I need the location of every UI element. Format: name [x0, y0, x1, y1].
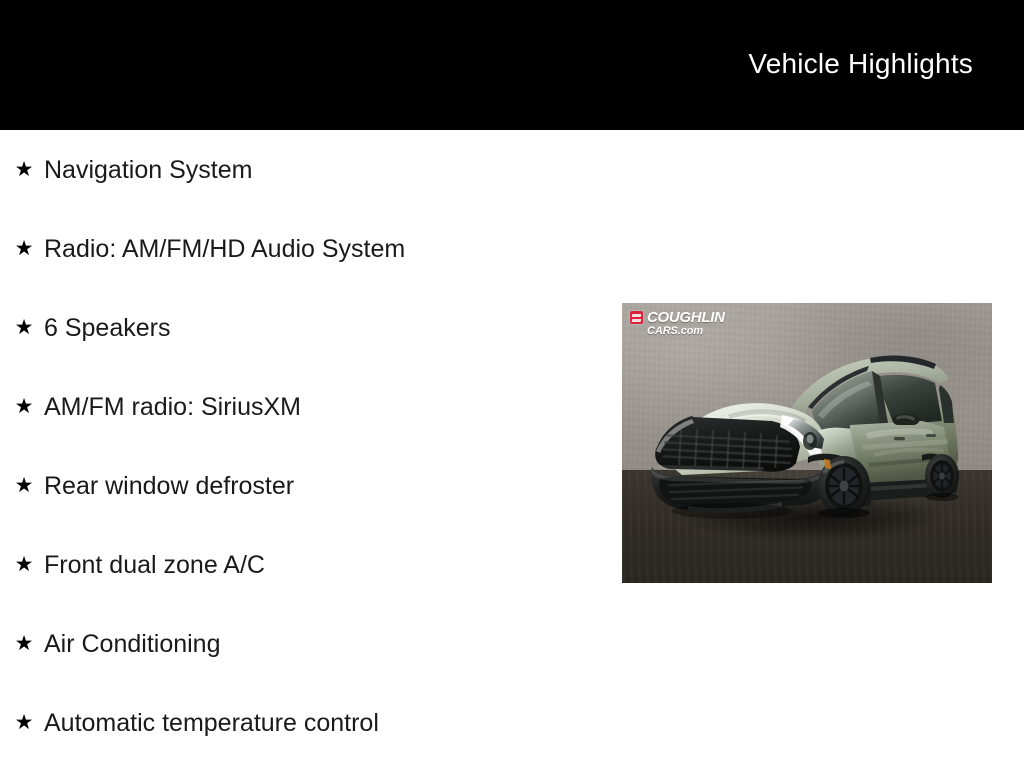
list-item-label: Radio: AM/FM/HD Audio System	[44, 234, 405, 264]
star-icon: ★	[13, 158, 35, 182]
star-icon: ★	[13, 237, 35, 261]
star-icon: ★	[13, 474, 35, 498]
list-item-label: Air Conditioning	[44, 629, 221, 659]
list-item-label: Automatic temperature control	[44, 708, 379, 738]
list-item: ★ Automatic temperature control	[0, 683, 620, 762]
page-header-banner: Vehicle Highlights	[0, 0, 1024, 130]
list-item: ★ 6 Speakers	[0, 288, 620, 367]
star-icon: ★	[13, 316, 35, 340]
list-item-label: Front dual zone A/C	[44, 550, 265, 580]
list-item: ★ Navigation System	[0, 130, 620, 209]
star-icon: ★	[13, 553, 35, 577]
list-item: ★ Air Conditioning	[0, 604, 620, 683]
vehicle-illustration	[622, 303, 992, 583]
list-item: ★ Front dual zone A/C	[0, 525, 620, 604]
star-icon: ★	[13, 395, 35, 419]
list-item-label: Navigation System	[44, 155, 252, 185]
page-title: Vehicle Highlights	[748, 47, 973, 81]
vehicle-photo[interactable]: COUGHLIN CARS.com	[622, 303, 992, 583]
list-item-label: AM/FM radio: SiriusXM	[44, 392, 301, 422]
list-item-label: Rear window defroster	[44, 471, 294, 501]
star-icon: ★	[13, 632, 35, 656]
list-item-label: 6 Speakers	[44, 313, 170, 343]
list-item: ★ Rear window defroster	[0, 446, 620, 525]
vehicle-highlights-list: ★ Navigation System ★ Radio: AM/FM/HD Au…	[0, 130, 620, 762]
list-item: ★ Radio: AM/FM/HD Audio System	[0, 209, 620, 288]
star-icon: ★	[13, 711, 35, 735]
list-item: ★ AM/FM radio: SiriusXM	[0, 367, 620, 446]
